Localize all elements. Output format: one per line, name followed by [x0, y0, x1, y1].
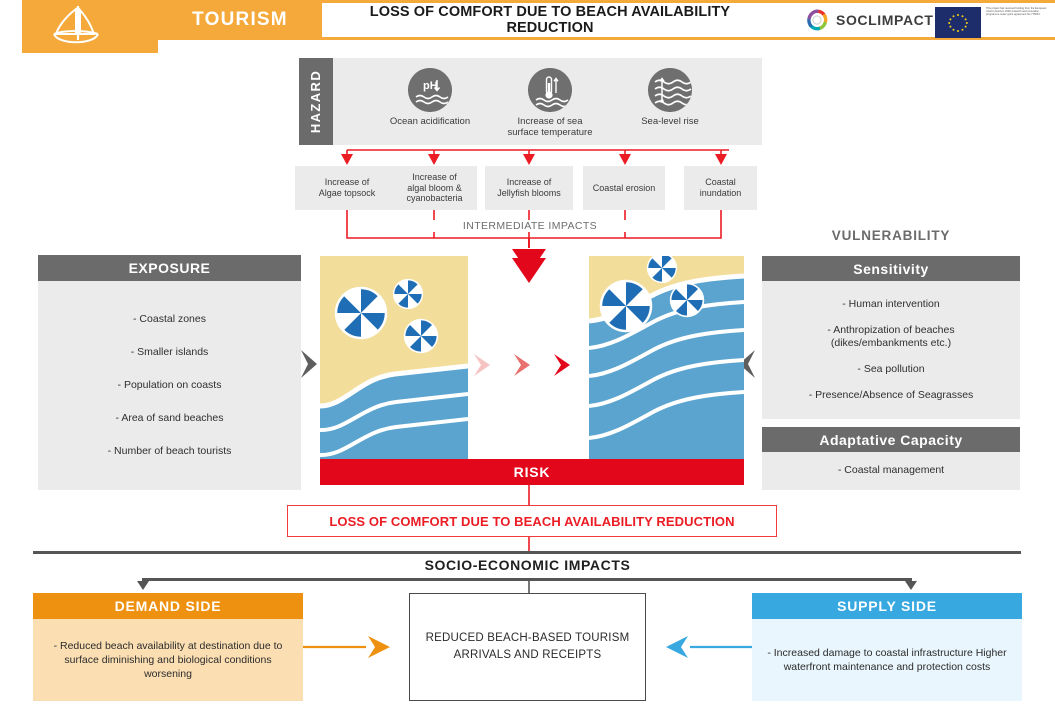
vulnerability-title: VULNERABILITY	[762, 228, 1020, 243]
demand-side-header: DEMAND SIDE	[33, 593, 303, 619]
supply-side-header: SUPPLY SIDE	[752, 593, 1022, 619]
sailboat-icon	[42, 4, 114, 50]
hazard-item-label: Increase of seasurface temperature	[490, 116, 610, 139]
svg-text:pH: pH	[423, 80, 438, 92]
sector-label: TOURISM	[192, 9, 288, 31]
exposure-header: EXPOSURE	[38, 255, 301, 281]
demand-side-body: - Reduced beach availability at destinat…	[33, 619, 303, 701]
eu-flag-icon	[935, 7, 981, 38]
sensitivity-item-human-intervention: - Human intervention	[842, 298, 939, 311]
header-sector-band: TOURISM	[158, 0, 322, 40]
exposure-item-number-of-beach-tourists: - Number of beach tourists	[108, 445, 232, 458]
socio-economic-title: SOCIO-ECONOMIC IMPACTS	[330, 557, 725, 573]
ocean-acidification-icon: pH	[408, 68, 452, 112]
hazard-item-ocean-acidification: pH Ocean acidification	[370, 68, 490, 127]
sea-level-rise-icon	[648, 68, 692, 112]
adaptative-capacity-header: Adaptative Capacity	[762, 427, 1020, 452]
eu-disclaimer-text: This project has received funding from t…	[986, 7, 1050, 17]
exposure-item-smaller-islands: - Smaller islands	[131, 346, 209, 359]
sensitivity-header: Sensitivity	[762, 256, 1020, 281]
hazard-label: HAZARD	[309, 70, 324, 133]
hazard-item-label: Sea-level rise	[610, 116, 730, 127]
risk-bar: RISK	[320, 459, 744, 485]
triple-chevron-right-icon	[470, 350, 588, 380]
exposure-item-coastal-zones: - Coastal zones	[133, 313, 206, 326]
hazard-item-sea-surface-temperature: Increase of seasurface temperature	[490, 68, 610, 139]
intermediate-box-coastal-erosion: Coastal erosion	[583, 166, 665, 210]
soclimpact-swirl-icon	[805, 8, 829, 32]
intermediate-box-algae-topsock: Increase ofAlgae topsock	[295, 166, 399, 210]
outcome-box: REDUCED BEACH-BASED TOURISM ARRIVALS AND…	[409, 593, 646, 701]
exposure-body: - Coastal zones - Smaller islands - Popu…	[38, 281, 301, 490]
exposure-title: EXPOSURE	[129, 260, 211, 276]
sensitivity-item-seagrasses: - Presence/Absence of Seagrasses	[809, 389, 974, 402]
hazard-label-tab: HAZARD	[299, 58, 333, 145]
supply-side-title: SUPPLY SIDE	[837, 598, 937, 614]
hazard-item-sea-level-rise: Sea-level rise	[610, 68, 730, 127]
intermediate-box-jellyfish: Increase ofJellyfish blooms	[485, 166, 573, 210]
socio-divider-bottom	[143, 578, 911, 581]
intermediate-box-algal-bloom: Increase ofalgal bloom &cyanobacteria	[392, 166, 477, 210]
soclimpact-label: SOCLIMPACT	[836, 12, 934, 28]
intermediate-box-coastal-inundation: Coastalinundation	[684, 166, 757, 210]
soclimpact-brand: SOCLIMPACT	[805, 8, 934, 32]
sensitivity-body: - Human intervention - Anthropization of…	[762, 281, 1020, 419]
supply-side-body: - Increased damage to coastal infrastruc…	[752, 619, 1022, 701]
adaptative-capacity-title: Adaptative Capacity	[819, 432, 962, 448]
page-title: LOSS OF COMFORT DUE TO BEACH AVAILABILIT…	[330, 0, 770, 40]
exposure-item-population-on-coasts: - Population on coasts	[118, 379, 222, 392]
eu-funding-block: This project has received funding from t…	[935, 7, 1050, 38]
risk-label: RISK	[514, 464, 551, 480]
exposure-item-area-of-sand-beaches: - Area of sand beaches	[116, 412, 224, 425]
sensitivity-title: Sensitivity	[853, 261, 929, 277]
beach-with-umbrellas-icon	[320, 256, 468, 460]
sea-surface-temperature-icon	[528, 68, 572, 112]
chevron-right-icon	[299, 348, 321, 380]
sensitivity-item-sea-pollution: - Sea pollution	[857, 363, 924, 376]
adaptative-capacity-item-coastal-management: - Coastal management	[838, 464, 944, 477]
flooded-beach-icon	[589, 256, 744, 460]
hazard-item-label: Ocean acidification	[370, 116, 490, 127]
intermediate-impacts-label: INTERMEDIATE IMPACTS	[430, 220, 630, 232]
infographic-canvas: TOURISM LOSS OF COMFORT DUE TO BEACH AVA…	[0, 0, 1055, 709]
demand-side-title: DEMAND SIDE	[115, 598, 222, 614]
sensitivity-item-anthropization: - Anthropization of beaches(dikes/embank…	[827, 324, 954, 350]
adaptative-capacity-body: - Coastal management	[762, 452, 1020, 490]
socio-divider-top	[33, 551, 1021, 554]
risk-caption: LOSS OF COMFORT DUE TO BEACH AVAILABILIT…	[287, 505, 777, 537]
